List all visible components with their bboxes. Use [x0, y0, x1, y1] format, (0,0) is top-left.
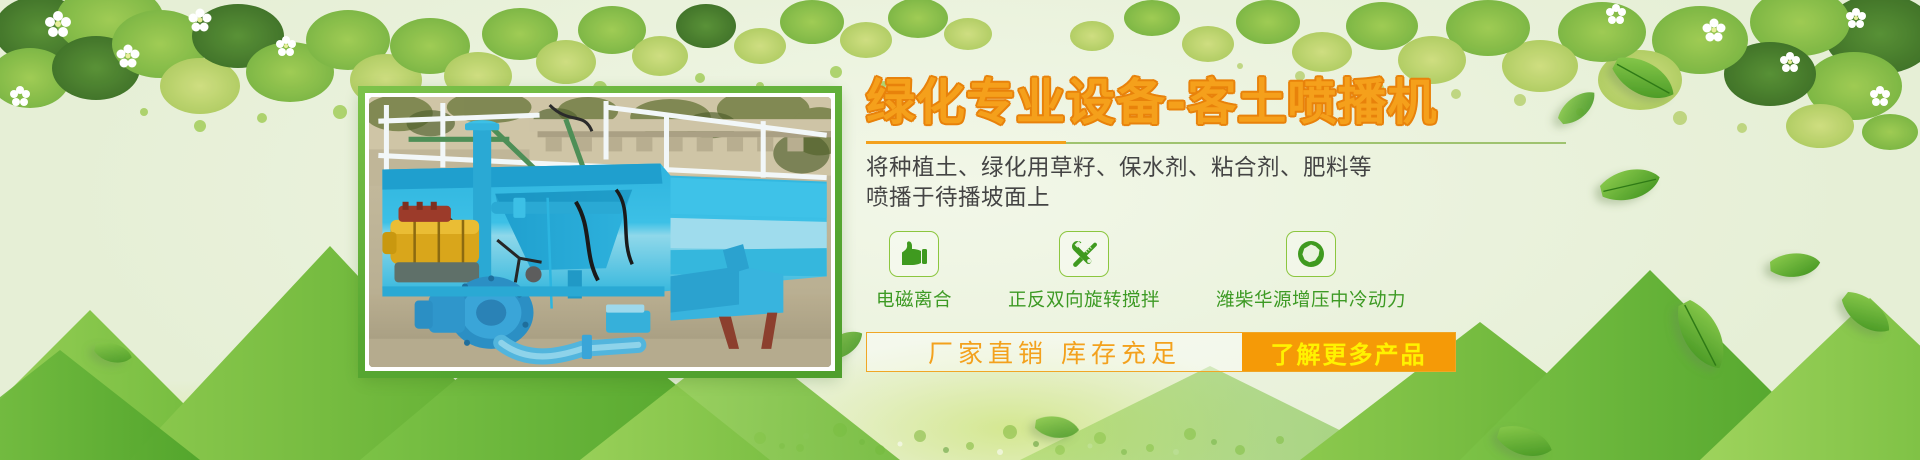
banner-subtitle: 将种植土、绿化用草籽、保水剂、粘合剂、肥料等 喷播于待播坡面上: [866, 154, 1566, 213]
tools-wrench-screwdriver-icon: [1059, 231, 1109, 277]
gear-ring-icon: [1286, 231, 1336, 277]
feature-list: 电磁离合: [866, 231, 1566, 312]
feature-item-weichai-power[interactable]: 潍柴华源增压中冷动力: [1206, 231, 1416, 312]
feature-label: 电磁离合: [876, 286, 952, 312]
promo-banner: 绿化专业设备-客土喷播机 将种植土、绿化用草籽、保水剂、粘合剂、肥料等 喷播于待…: [0, 0, 1920, 460]
banner-content: 绿化专业设备-客土喷播机 将种植土、绿化用草籽、保水剂、粘合剂、肥料等 喷播于待…: [866, 78, 1566, 372]
subtitle-line-2: 喷播于待播坡面上: [866, 184, 1566, 214]
feature-label: 潍柴华源增压中冷动力: [1216, 286, 1406, 312]
thumbs-up-icon: [889, 231, 939, 277]
learn-more-button[interactable]: 了解更多产品: [1242, 333, 1455, 371]
subtitle-line-1: 将种植土、绿化用草籽、保水剂、粘合剂、肥料等: [866, 154, 1566, 184]
banner-headline: 绿化专业设备-客土喷播机: [866, 78, 1566, 127]
product-photo: [369, 97, 831, 367]
grass-haze-left: [0, 300, 360, 460]
feature-item-bidirectional-mixing[interactable]: 正反双向旋转搅拌: [996, 231, 1172, 312]
title-divider: [866, 141, 1566, 144]
cta-bar: 厂家直销 库存充足 了解更多产品: [866, 332, 1456, 372]
feature-label: 正反双向旋转搅拌: [1008, 286, 1160, 312]
feature-item-electromagnetic-clutch[interactable]: 电磁离合: [866, 231, 962, 312]
product-photo-frame[interactable]: [358, 86, 842, 378]
cta-tagline: 厂家直销 库存充足: [867, 333, 1242, 371]
